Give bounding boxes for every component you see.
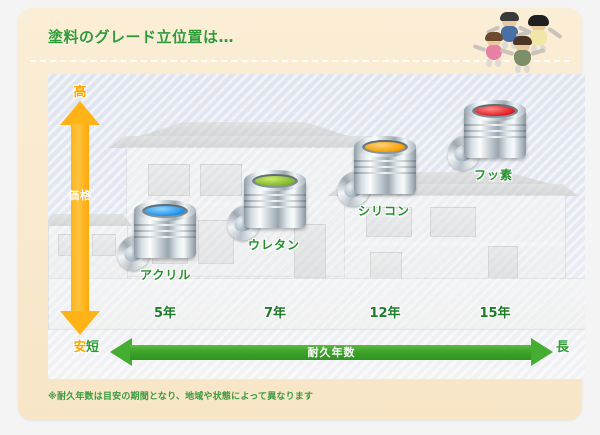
year-label-fluorine: 15年 (460, 302, 530, 321)
arrow-up-head (60, 101, 100, 125)
can-icon (464, 100, 526, 162)
can-label-fluorine: フッ素 (474, 166, 513, 183)
durability-axis-label: 耐久年数 (110, 345, 553, 360)
price-axis-label: 価格 (60, 189, 100, 202)
year-label-acrylic: 5年 (130, 302, 200, 321)
paint-surface-urethane (255, 176, 295, 186)
children-clipart-icon (476, 12, 572, 68)
info-card: 塗料のグレード立位置は… (18, 8, 582, 420)
year-label-urethane: 7年 (240, 302, 310, 321)
can-label-silicon: シリコン (358, 202, 410, 219)
page-title: 塗料のグレード立位置は… (48, 26, 234, 47)
can-label-acrylic: アクリル (140, 266, 191, 283)
paint-surface-silicon (365, 142, 405, 152)
arrow-down-head (60, 311, 100, 335)
footnote-text: ※耐久年数は目安の期間となり、地域や状態によって異なります (48, 389, 313, 402)
arrow-shaft (71, 123, 89, 313)
can-icon (354, 136, 416, 198)
durability-arrow-icon: 耐久年数 (110, 338, 553, 366)
paint-surface-acrylic (145, 206, 185, 216)
durability-long-label: 長 (556, 336, 569, 355)
screenshot-root: 塗料のグレード立位置は… (0, 0, 600, 435)
chart-panel: 高 価格 安 短 耐久年数 長 (48, 74, 585, 379)
can-icon (244, 170, 306, 232)
can-label-urethane: ウレタン (248, 236, 300, 253)
paint-surface-fluorine (475, 106, 515, 116)
price-high-label: 高 (56, 81, 104, 100)
can-icon (134, 200, 196, 262)
price-arrow-icon: 価格 (60, 101, 100, 335)
durability-short-label: 短 (86, 336, 99, 355)
year-label-silicon: 12年 (350, 302, 420, 321)
